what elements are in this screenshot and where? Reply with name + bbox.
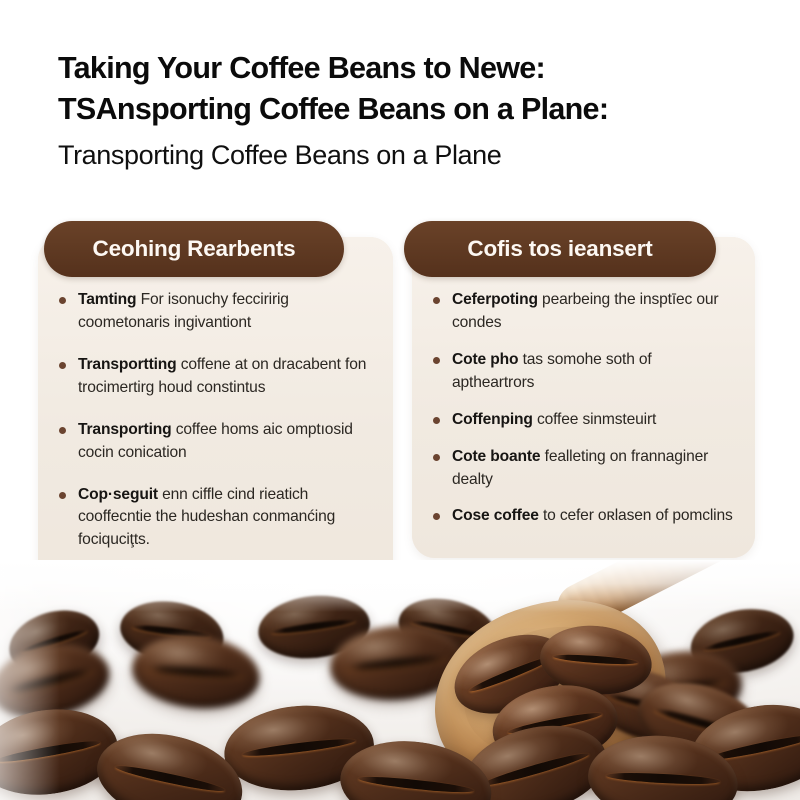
list-item-lead: Transportting — [78, 356, 177, 373]
card-left-bullet-list: Tamting For isonuchy fecciririg coometon… — [56, 289, 373, 552]
card-right: Ceferpoting pearbeing the insptīec our c… — [412, 237, 755, 558]
list-item-lead: Tamting — [78, 291, 136, 308]
card-right-heading-label: Cofis tos ieansert — [467, 236, 652, 262]
card-right-heading-pill: Cofis tos ieansert — [404, 221, 716, 277]
list-item-lead: Ceferpoting — [452, 291, 538, 308]
coffee-beans-photo — [0, 560, 800, 800]
list-item: Cose coffee to cefer oʀlaѕen of pomclins — [430, 505, 735, 528]
list-item: Cote pho tas somohe soth of aptheartrors — [430, 349, 735, 395]
list-item-lead: Cop·seguit — [78, 486, 158, 503]
list-item: Transporting coffee homs aic omptıosid c… — [56, 419, 373, 465]
infographic-page: Taking Your Coffee Beans to Newe: TSAnsp… — [0, 0, 800, 800]
photo-left-fade — [0, 560, 60, 800]
list-item: Transportting coffene at on dracabent fo… — [56, 354, 373, 400]
list-item-text: coffee sinmsteuirt — [537, 411, 656, 428]
list-item-lead: Transporting — [78, 421, 172, 438]
page-title-line-2: TSAnsporting Coffee Beans on a Plane: — [58, 89, 758, 130]
list-item-lead: Cose coffee — [452, 507, 539, 524]
list-item: Cote boante fealleting on frannaginer de… — [430, 446, 735, 492]
list-item-lead: Coffenping — [452, 411, 533, 428]
list-item: Tamting For isonuchy fecciririg coometon… — [56, 289, 373, 335]
card-left-heading-label: Ceohing Rearbents — [93, 236, 296, 262]
photo-top-fade — [0, 560, 800, 612]
list-item: Cop·seguit enn ciffle cind rieatich coof… — [56, 484, 373, 553]
list-item-lead: Cote boante — [452, 448, 540, 465]
page-title-block: Taking Your Coffee Beans to Newe: TSAnsp… — [58, 48, 758, 171]
list-item-lead: Cote pho — [452, 351, 518, 368]
page-title-line-1: Taking Your Coffee Beans to Newe: — [58, 48, 758, 89]
page-subtitle: Transporting Coffee Beans on a Plane — [58, 140, 758, 171]
card-left: Tamting For isonuchy fecciririg coometon… — [38, 237, 393, 593]
list-item: Coffenping coffee sinmsteuirt — [430, 409, 735, 432]
list-item-text: to cefer oʀlaѕen of pomclins — [543, 507, 733, 524]
card-right-bullet-list: Ceferpoting pearbeing the insptīec our c… — [430, 289, 735, 528]
list-item: Ceferpoting pearbeing the insptīec our c… — [430, 289, 735, 335]
card-left-heading-pill: Ceohing Rearbents — [44, 221, 344, 277]
